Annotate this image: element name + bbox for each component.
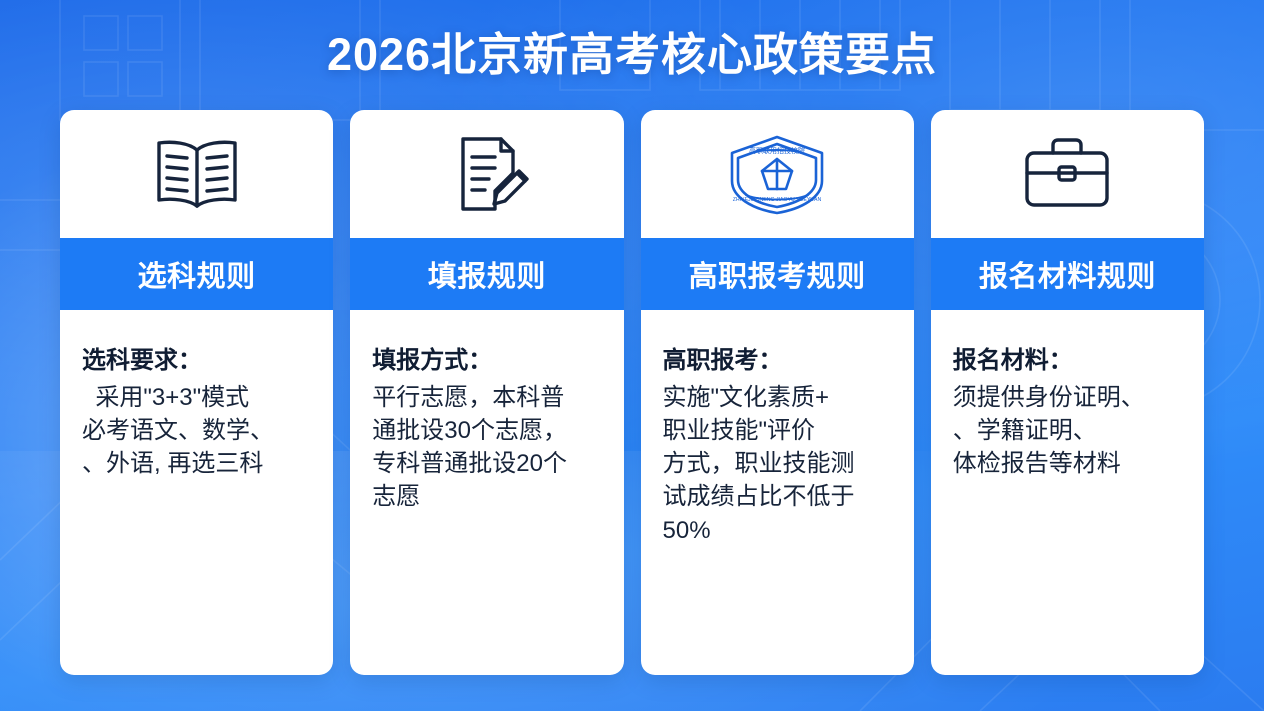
svg-text:ZHIYEJIAONENG JIAOYU XUEYUAN: ZHIYEJIAONENG JIAOYU XUEYUAN (733, 197, 822, 203)
card-header-materials: 报名材料规则 (931, 238, 1204, 310)
academy-badge-icon: 高职联用招技校院 ZHIYEJIAONENG JIAOYU XUEYUAN (722, 131, 832, 217)
card-icon-slot (931, 110, 1204, 238)
card-body-text: 实施"文化素质+ 职业技能"评价 方式，职业技能测 试成绩占比不低于 50% (663, 381, 894, 547)
policy-card-row: 选科规则 选科要求： 采用"3+3"模式 必考语文、数学、 、外语, 再选三科 (60, 110, 1204, 675)
page-title: 2026北京新高考核心政策要点 (0, 18, 1264, 83)
card-body-label: 报名材料： (953, 344, 1184, 377)
card-body-label: 选科要求： (82, 344, 313, 377)
card-body-label: 填报方式： (372, 344, 603, 377)
card-header-vocational: 高职报考规则 (641, 238, 914, 310)
card-icon-slot (350, 110, 623, 238)
policy-card-subject-selection[interactable]: 选科规则 选科要求： 采用"3+3"模式 必考语文、数学、 、外语, 再选三科 (60, 110, 333, 675)
policy-card-materials[interactable]: 报名材料规则 报名材料： 须提供身份证明、 、学籍证明、 体检报告等材料 (931, 110, 1204, 675)
card-body-application: 填报方式： 平行志愿，本科普 通批设30个志愿， 专科普通批设20个 志愿 (350, 310, 623, 675)
briefcase-icon (1017, 135, 1117, 213)
policy-card-application[interactable]: 填报规则 填报方式： 平行志愿，本科普 通批设30个志愿， 专科普通批设20个 … (350, 110, 623, 675)
policy-card-vocational[interactable]: 高职联用招技校院 ZHIYEJIAONENG JIAOYU XUEYUAN 高职… (641, 110, 914, 675)
document-pen-icon (439, 133, 535, 215)
card-body-text: 平行志愿，本科普 通批设30个志愿， 专科普通批设20个 志愿 (372, 381, 603, 513)
card-header-subject-selection: 选科规则 (60, 238, 333, 310)
card-icon-slot: 高职联用招技校院 ZHIYEJIAONENG JIAOYU XUEYUAN (641, 110, 914, 238)
card-body-materials: 报名材料： 须提供身份证明、 、学籍证明、 体检报告等材料 (931, 310, 1204, 675)
card-body-label: 高职报考： (663, 344, 894, 377)
open-book-icon (149, 134, 245, 214)
card-icon-slot (60, 110, 333, 238)
svg-text:高职联用招技校院: 高职联用招技校院 (749, 146, 805, 155)
card-body-text: 须提供身份证明、 、学籍证明、 体检报告等材料 (953, 381, 1184, 480)
card-body-subject-selection: 选科要求： 采用"3+3"模式 必考语文、数学、 、外语, 再选三科 (60, 310, 333, 675)
card-body-text: 采用"3+3"模式 必考语文、数学、 、外语, 再选三科 (82, 381, 313, 480)
card-body-vocational: 高职报考： 实施"文化素质+ 职业技能"评价 方式，职业技能测 试成绩占比不低于… (641, 310, 914, 675)
card-header-application: 填报规则 (350, 238, 623, 310)
slide-canvas: 2026北京新高考核心政策要点 选科规则 选科要求： 采用"3+3"模 (0, 0, 1264, 711)
